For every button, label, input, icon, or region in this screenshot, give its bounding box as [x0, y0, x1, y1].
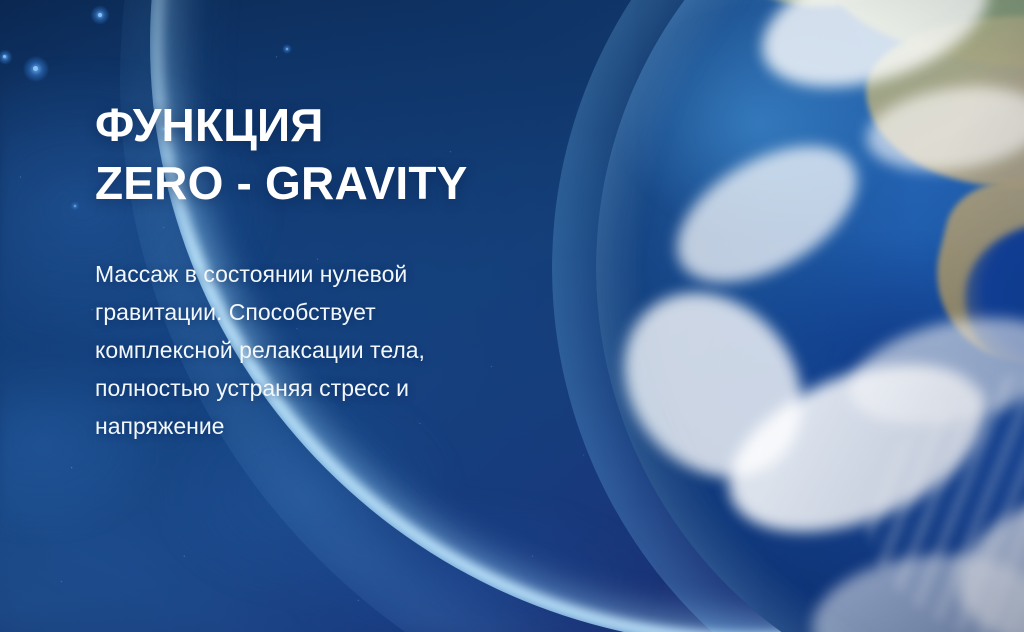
- earth-sphere: [596, 0, 1024, 632]
- zero-gravity-banner: ФУНКЦИЯ ZERO - GRAVITY Массаж в состояни…: [0, 0, 1024, 632]
- page-title: ФУНКЦИЯ ZERO - GRAVITY: [95, 96, 565, 212]
- earth-graphic: [596, 0, 1024, 632]
- description-text: Массаж в состоянии нулевой гравитации. С…: [95, 255, 515, 445]
- text-content: ФУНКЦИЯ ZERO - GRAVITY Массаж в состояни…: [95, 96, 565, 445]
- headline-line-2: ZERO - GRAVITY: [95, 154, 565, 212]
- headline-line-1: ФУНКЦИЯ: [95, 96, 565, 154]
